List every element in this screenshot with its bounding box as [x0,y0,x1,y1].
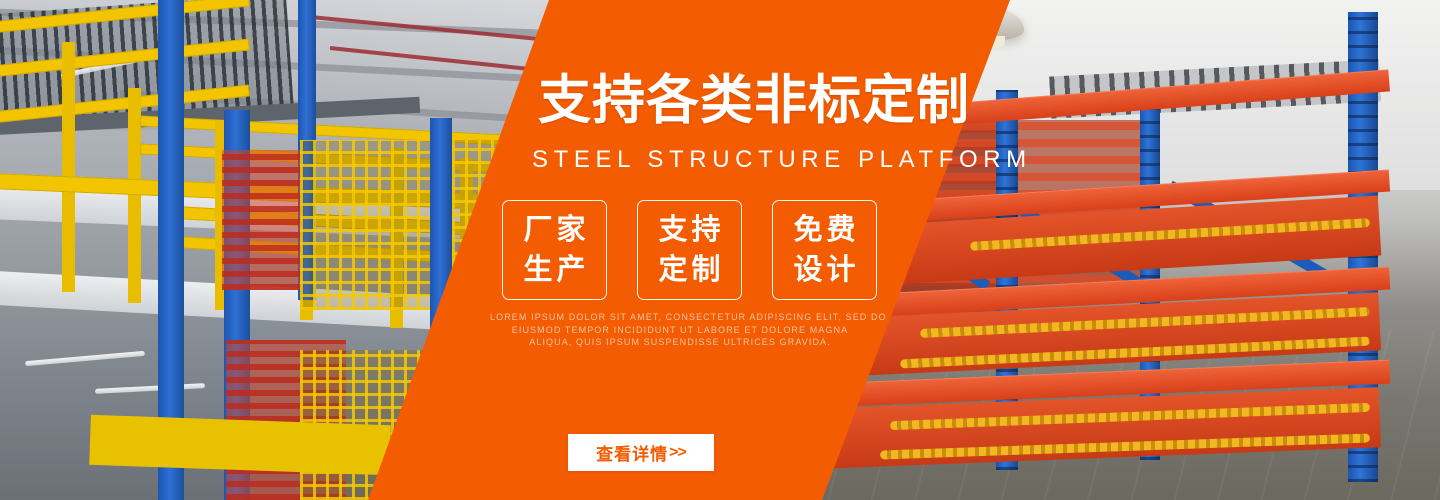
description-line-3: ALIQUA, QUIS IPSUM SUSPENDISSE ULTRICES … [490,336,870,349]
feature-badge-row: 厂家 生产 支持 定制 免费 设计 [502,200,877,300]
feature-badge-manufacturer[interactable]: 厂家 生产 [502,200,607,300]
description-line-2: EIUSMOD TEMPOR INCIDIDUNT UT LABORE ET D… [490,324,870,337]
feature-badge-line2: 生产 [519,250,589,290]
feature-badge-line2: 定制 [654,250,724,290]
view-details-label: 查看详情 [596,440,668,465]
banner-description: LOREM IPSUM DOLOR SIT AMET, CONSECTETUR … [490,311,870,349]
banner-headline: 支持各类非标定制 [538,72,970,130]
feature-badge-free-design[interactable]: 免费 设计 [772,200,877,300]
description-line-1: LOREM IPSUM DOLOR SIT AMET, CONSECTETUR … [490,311,870,324]
feature-badge-line2: 设计 [789,250,859,290]
feature-badge-line1: 厂家 [519,210,589,250]
feature-badge-line1: 免费 [789,210,859,250]
banner-subheadline: STEEL STRUCTURE PLATFORM [532,146,1032,174]
view-details-button[interactable]: 查看详情 >> [568,434,714,471]
feature-badge-customization[interactable]: 支持 定制 [637,200,742,300]
chevron-right-icon: >> [669,444,686,462]
feature-badge-line1: 支持 [654,210,724,250]
promo-banner: 支持各类非标定制 STEEL STRUCTURE PLATFORM 厂家 生产 … [0,0,1440,500]
banner-content: 支持各类非标定制 STEEL STRUCTURE PLATFORM 厂家 生产 … [0,0,1440,500]
